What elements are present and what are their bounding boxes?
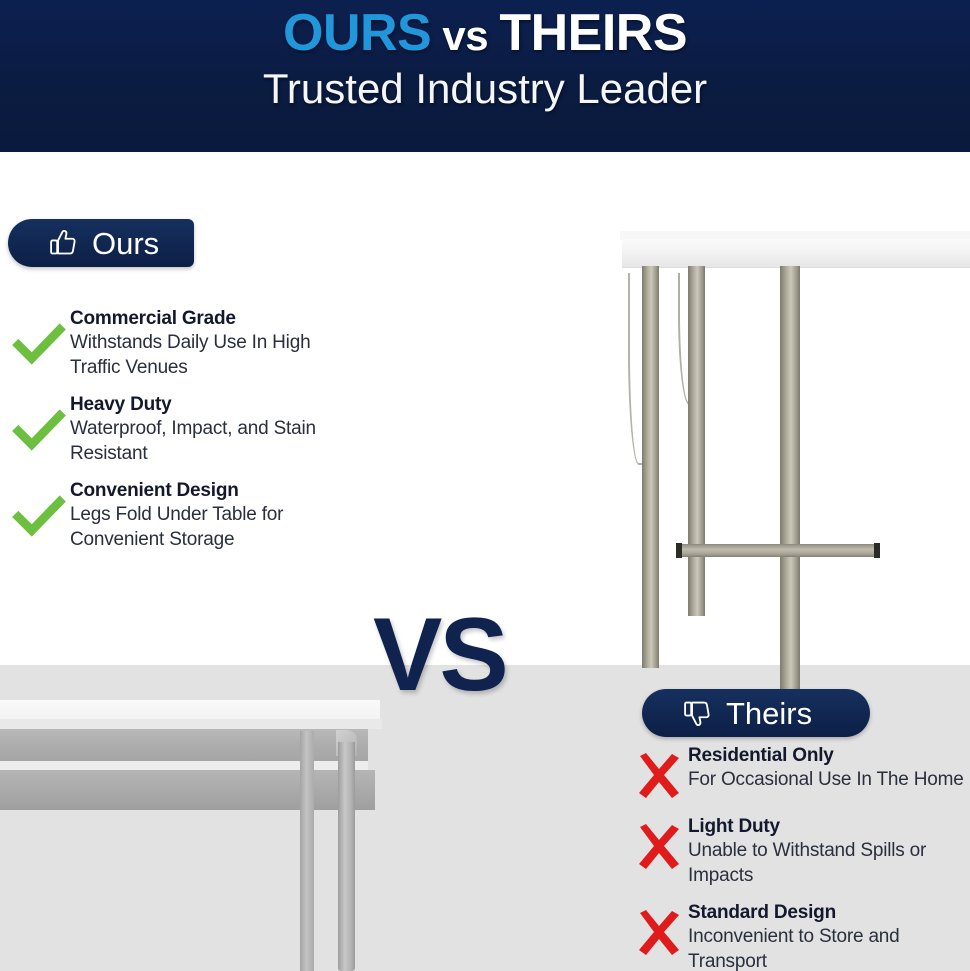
list-item-text: Light Duty Unable to Withstand Spills or… xyxy=(688,813,970,888)
list-item-text: Convenient Design Legs Fold Under Table … xyxy=(70,477,338,552)
list-item-title: Light Duty xyxy=(688,815,970,839)
list-item: Light Duty Unable to Withstand Spills or… xyxy=(630,813,970,888)
list-item-title: Heavy Duty xyxy=(70,393,338,417)
list-item-desc: Legs Fold Under Table for Convenient Sto… xyxy=(70,503,338,552)
theirs-table-leg-front xyxy=(338,742,355,971)
list-item-text: Standard Design Inconvenient to Store an… xyxy=(688,899,970,971)
theirs-badge[interactable]: Theirs xyxy=(642,689,870,737)
list-item-title: Convenient Design xyxy=(70,479,338,503)
comparison-infographic: OURS vs THEIRS Trusted Industry Leader O… xyxy=(0,0,970,971)
header-subtitle: Trusted Industry Leader xyxy=(0,65,970,113)
check-icon xyxy=(8,401,70,459)
list-item-desc: Waterproof, Impact, and Stain Resistant xyxy=(70,417,338,466)
theirs-feature-list: Residential Only For Occasional Use In T… xyxy=(630,742,970,971)
tabletop-front xyxy=(622,239,970,268)
table-leg-front xyxy=(780,266,800,704)
ours-product-image xyxy=(600,218,970,668)
list-item-text: Commercial Grade Withstands Daily Use In… xyxy=(70,305,338,380)
theirs-apron-lower xyxy=(0,770,375,810)
theirs-badge-label: Theirs xyxy=(726,698,812,729)
list-item-title: Residential Only xyxy=(688,744,970,768)
thumbs-down-icon xyxy=(680,696,714,730)
theirs-tabletop-edge xyxy=(0,719,382,729)
list-item-desc: Unable to Withstand Spills or Impacts xyxy=(688,839,970,888)
list-item-desc: Withstands Daily Use In High Traffic Ven… xyxy=(70,331,338,380)
ours-badge-label: Ours xyxy=(92,228,159,259)
list-item-desc: Inconvenient to Store and Transport xyxy=(688,925,970,971)
crossbar-cap-right xyxy=(874,543,880,558)
ours-badge[interactable]: Ours xyxy=(8,219,194,267)
list-item-title: Standard Design xyxy=(688,901,970,925)
x-icon xyxy=(630,907,688,959)
theirs-table-leg-rear xyxy=(300,731,314,971)
check-icon xyxy=(8,315,70,373)
list-item: Commercial Grade Withstands Daily Use In… xyxy=(8,305,338,380)
x-icon xyxy=(630,821,688,873)
header-title-ours: OURS xyxy=(283,4,431,62)
header-banner: OURS vs THEIRS Trusted Industry Leader xyxy=(0,0,970,152)
list-item-text: Residential Only For Occasional Use In T… xyxy=(688,742,970,793)
list-item-title: Commercial Grade xyxy=(70,307,338,331)
header-title: OURS vs THEIRS xyxy=(0,6,970,61)
header-title-theirs: THEIRS xyxy=(499,4,687,62)
crossbar-cap-left xyxy=(676,543,682,558)
table-leg-mid xyxy=(688,266,705,616)
list-item-text: Heavy Duty Waterproof, Impact, and Stain… xyxy=(70,391,338,466)
list-item: Standard Design Inconvenient to Store an… xyxy=(630,899,970,971)
thumbs-up-icon xyxy=(46,226,80,260)
list-item: Residential Only For Occasional Use In T… xyxy=(630,742,970,802)
header-title-vs: vs xyxy=(431,12,499,59)
ours-feature-list: Commercial Grade Withstands Daily Use In… xyxy=(8,305,338,563)
table-leg-rear xyxy=(642,266,659,668)
check-icon xyxy=(8,487,70,545)
table-crossbar xyxy=(678,544,878,557)
list-item: Heavy Duty Waterproof, Impact, and Stain… xyxy=(8,391,338,466)
list-item: Convenient Design Legs Fold Under Table … xyxy=(8,477,338,552)
list-item-desc: For Occasional Use In The Home xyxy=(688,768,970,792)
theirs-product-image xyxy=(0,690,400,971)
x-icon xyxy=(630,750,688,802)
